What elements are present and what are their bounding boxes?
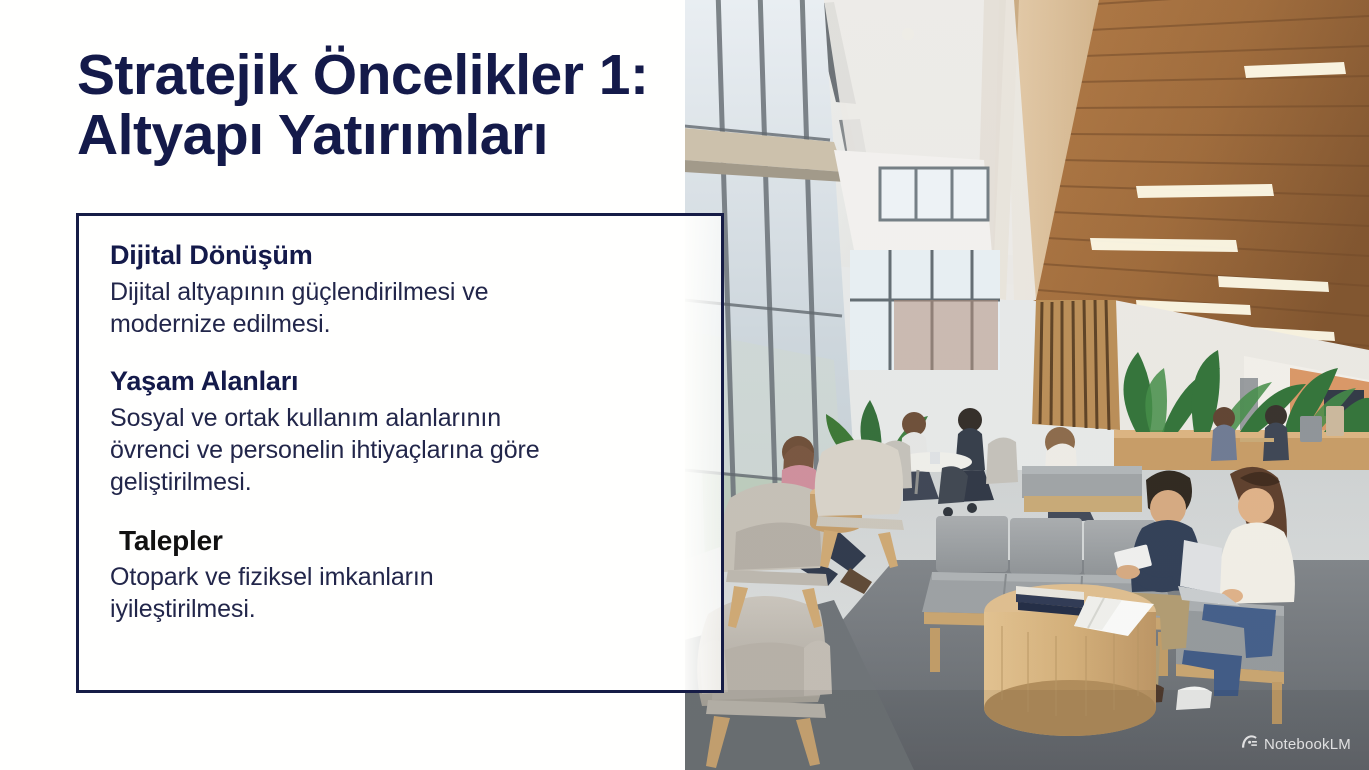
priority-item-yasam-alanlari: Yaşam Alanları Sosyal ve ortak kullanım … bbox=[110, 366, 690, 498]
priority-heading-talepler: Talepler bbox=[110, 524, 690, 557]
page-title: Stratejik Öncelikler 1: Altyapı Yatırıml… bbox=[77, 46, 717, 166]
priority-item-dijital-donusum: Dijital Dönüşüm Dijital altyapının güçle… bbox=[110, 240, 690, 340]
lounge-photo-illustration bbox=[684, 0, 1369, 770]
priority-text-yasam-alanlari: Sosyal ve ortak kullanım alanlarının övr… bbox=[110, 402, 690, 498]
priority-heading-yasam-alanlari: Yaşam Alanları bbox=[110, 366, 690, 398]
slide-canvas: Stratejik Öncelikler 1: Altyapı Yatırıml… bbox=[0, 0, 1369, 770]
priorities-list: Dijital Dönüşüm Dijital altyapının güçle… bbox=[110, 240, 690, 625]
priority-item-talepler: Talepler Otopark ve fiziksel imkanların … bbox=[110, 524, 690, 625]
notebooklm-watermark-label: NotebookLM bbox=[1264, 736, 1351, 753]
notebooklm-logo-icon bbox=[1241, 734, 1258, 754]
priority-text-dijital-donusum: Dijital altyapının güçlendirilmesi ve mo… bbox=[110, 276, 690, 340]
notebooklm-watermark: NotebookLM bbox=[1241, 734, 1351, 754]
priority-text-talepler: Otopark ve fiziksel imkanların iyileştir… bbox=[110, 561, 690, 625]
lounge-photo bbox=[684, 0, 1369, 770]
priority-heading-dijital-donusum: Dijital Dönüşüm bbox=[110, 240, 690, 272]
